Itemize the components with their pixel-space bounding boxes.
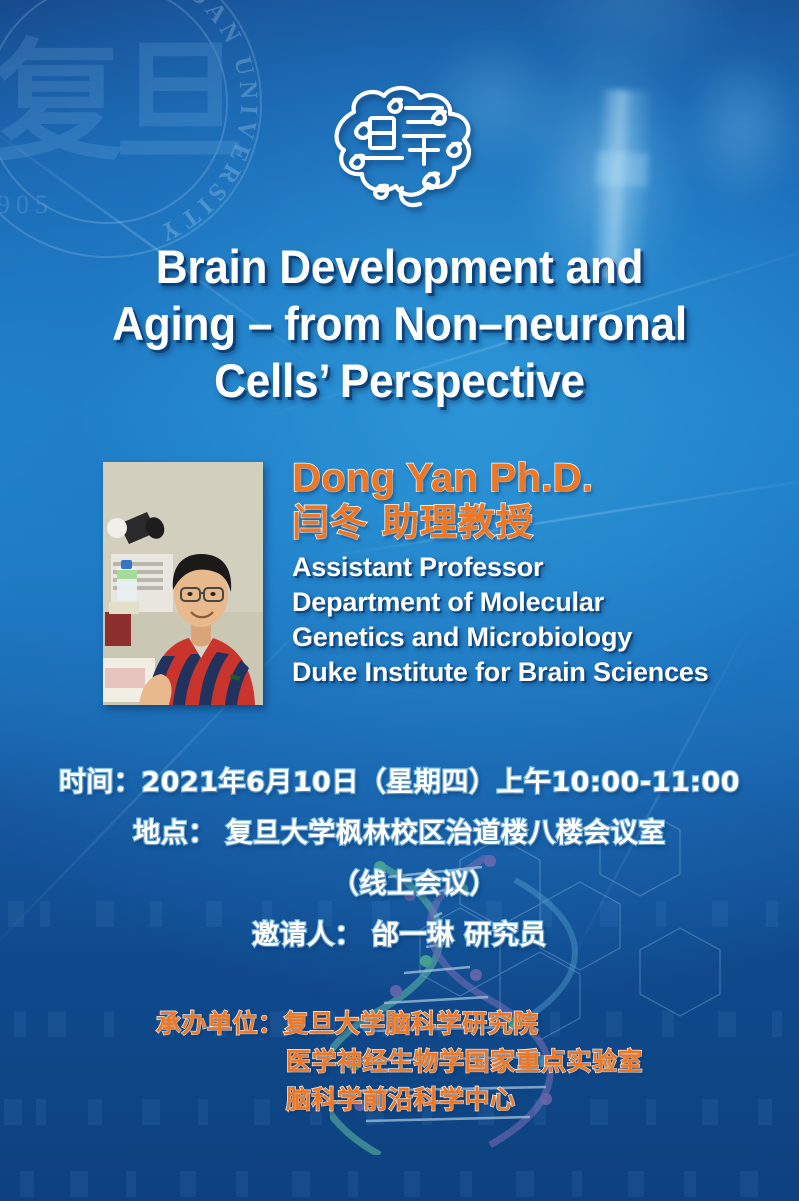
poster-title: Brain Development and Aging – from Non–n… [24, 238, 775, 409]
organizers: 承办单位：复旦大学脑科学研究院 医学神经生物学国家重点实验室 脑科学前沿科学中心 [0, 1005, 799, 1119]
event-location: 地点： 复旦大学枫林校区治道楼八楼会议室 [0, 808, 799, 859]
fudan-university-seal-watermark: 复旦 FUDAN UNIVERSITY 1905 [0, 0, 262, 258]
seal-year: 1905 [0, 190, 54, 220]
event-time: 时间：2021年6月10日（星期四）上午10:00-11:00 [0, 757, 799, 808]
speaker-photo [103, 462, 263, 705]
speaker-affiliation: Assistant Professor Department of Molecu… [292, 550, 762, 690]
title-line-2: Aging – from Non–neuronal [24, 295, 775, 352]
speaker-name-english: Dong Yan Ph.D. [292, 456, 762, 500]
svg-text:FUDAN UNIVERSITY: FUDAN UNIVERSITY [146, 0, 262, 248]
brain-fudan-logo-icon [310, 78, 490, 213]
speaker-name-chinese: 闫冬 助理教授 [292, 500, 762, 546]
event-details: 时间：2021年6月10日（星期四）上午10:00-11:00 地点： 复旦大学… [0, 757, 799, 961]
event-host: 邀请人： 邰一琳 研究员 [0, 910, 799, 961]
affiliation-line-1: Assistant Professor [292, 550, 762, 585]
organizer-line-2: 医学神经生物学国家重点实验室 [156, 1043, 643, 1081]
event-format: （线上会议） [0, 859, 799, 910]
seminar-poster: 复旦 FUDAN UNIVERSITY 1905 [0, 0, 799, 1201]
organizer-line-3: 脑科学前沿科学中心 [156, 1081, 643, 1119]
affiliation-line-2: Department of Molecular [292, 585, 762, 620]
title-line-3: Cells’ Perspective [24, 352, 775, 409]
organizer-line-1: 承办单位：复旦大学脑科学研究院 [156, 1005, 643, 1043]
title-line-1: Brain Development and [24, 238, 775, 295]
affiliation-line-4: Duke Institute for Brain Sciences [292, 655, 762, 690]
speaker-info: Dong Yan Ph.D. 闫冬 助理教授 Assistant Profess… [292, 456, 762, 690]
affiliation-line-3: Genetics and Microbiology [292, 620, 762, 655]
